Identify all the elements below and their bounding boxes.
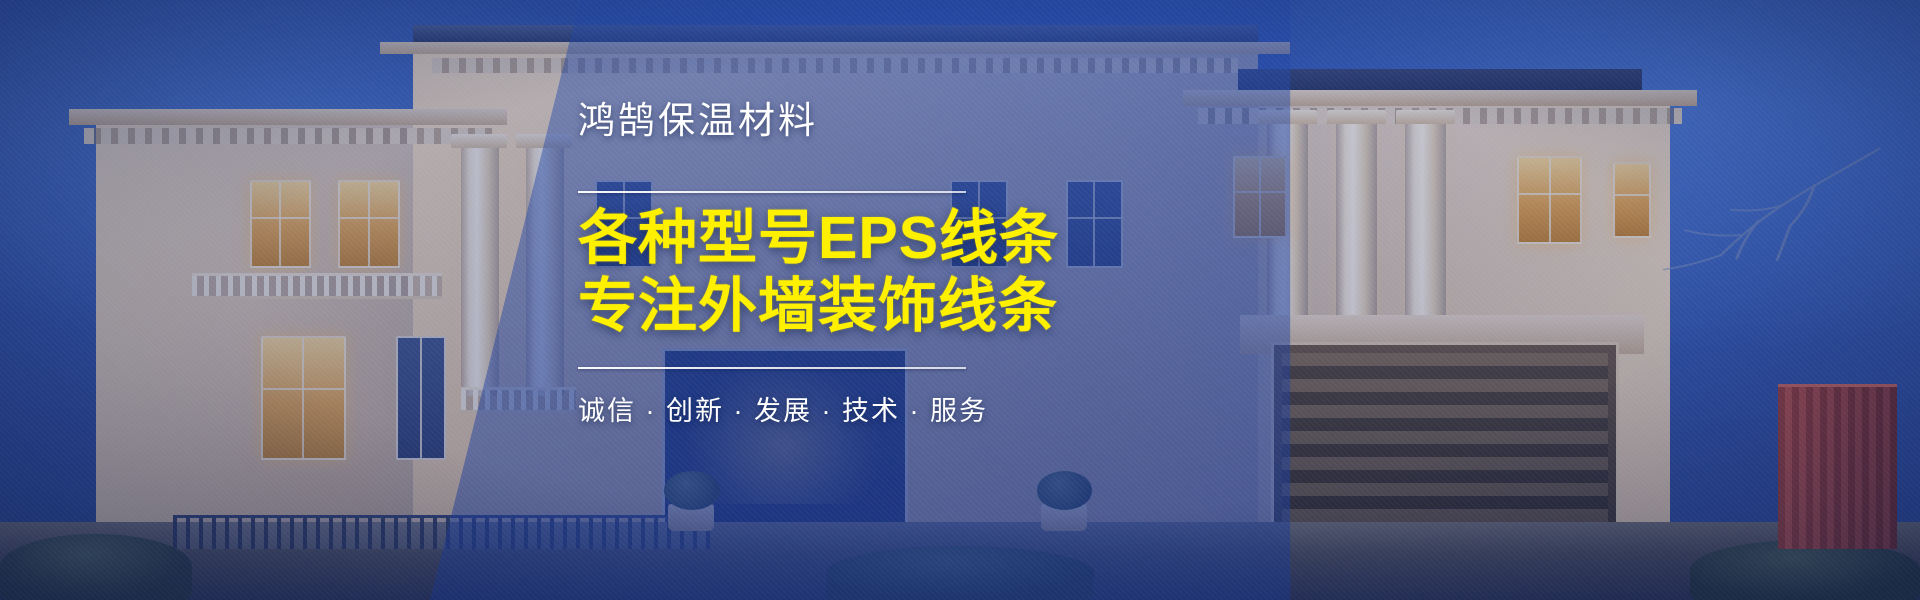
headline-line-1: 各种型号EPS线条 xyxy=(578,205,1278,271)
banner-copy-block: 鸿鹄保温材料 各种型号EPS线条 专注外墙装饰线条 诚信 · 创新 · 发展 ·… xyxy=(578,98,1278,428)
hero-banner: 鸿鹄保温材料 各种型号EPS线条 专注外墙装饰线条 诚信 · 创新 · 发展 ·… xyxy=(0,0,1920,600)
brand-name: 鸿鹄保温材料 xyxy=(578,98,1278,143)
divider-rule-bottom xyxy=(578,367,966,369)
headline-line-2: 专注外墙装饰线条 xyxy=(578,273,1278,339)
tagline: 诚信 · 创新 · 发展 · 技术 · 服务 xyxy=(578,389,1278,428)
divider-rule-top xyxy=(578,191,966,193)
